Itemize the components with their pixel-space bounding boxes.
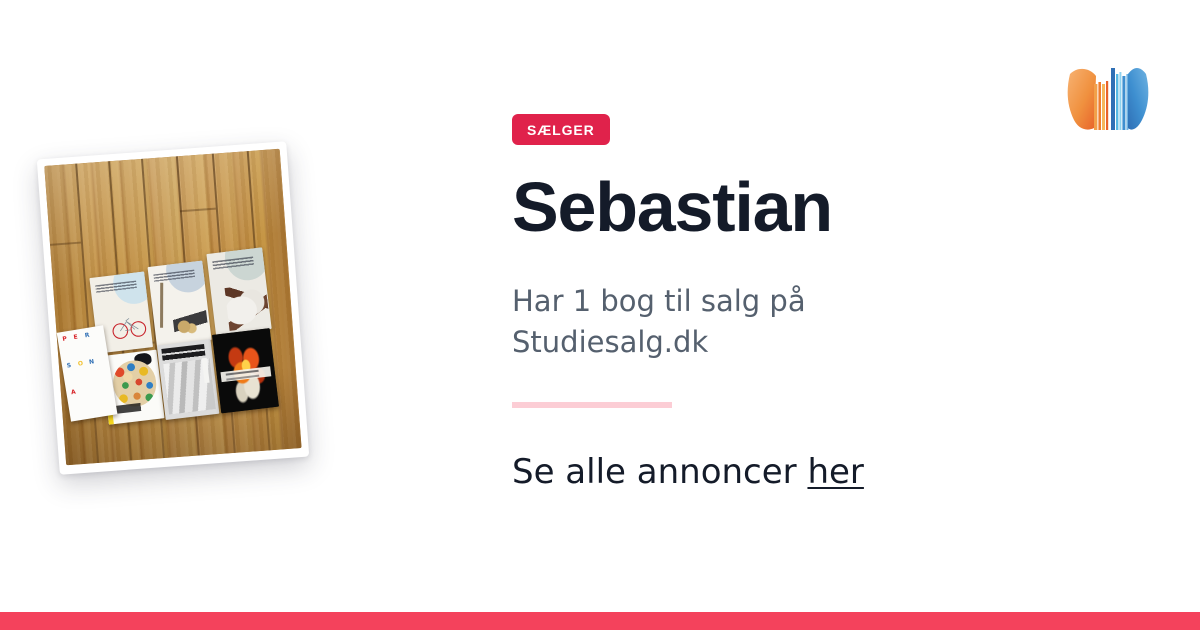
divider-rule (512, 402, 672, 408)
glove-photo (225, 283, 270, 330)
page-title: Sebastian (512, 170, 832, 246)
spiral-building-photo (163, 359, 216, 415)
persona-letter: O (77, 361, 83, 368)
persona-letter: N (88, 360, 94, 367)
books-photo-card: PERSONA (37, 141, 309, 474)
cta-prefix: Se alle annoncer (512, 452, 807, 492)
books-layout (90, 257, 280, 421)
studiesalg-logo (1056, 48, 1160, 158)
cover-object (171, 294, 210, 340)
book-cover-fire (212, 328, 279, 413)
subtitle: Har 1 bog til salg på Studiesalg.dk (512, 281, 912, 363)
bicycle-illustration (109, 305, 149, 346)
persona-letter: A (70, 390, 76, 397)
bottom-accent-bar (0, 612, 1200, 630)
cover-title-lines (162, 344, 206, 361)
seller-badge: SÆLGER (512, 114, 610, 145)
persona-letter: P (62, 337, 67, 344)
persona-letter: E (73, 335, 78, 342)
cover-title-band (116, 401, 157, 413)
cover-object-stick (160, 283, 163, 328)
logo-right-stripes (1111, 68, 1128, 130)
see-all-ads-link[interactable]: her (807, 452, 863, 492)
logo-left-wing (1068, 69, 1096, 130)
book-cover-tools (148, 260, 212, 347)
logo-left-stripes (1094, 81, 1108, 130)
persona-letter: R (84, 333, 90, 340)
reflection-fade (1056, 136, 1160, 158)
persona-letter: S (66, 363, 71, 370)
logo-mark (1068, 68, 1149, 130)
share-card: PERSONA SÆLGER Sebastian Har 1 bog til s… (0, 0, 1200, 630)
book-cover-glove (206, 247, 271, 335)
text-content: SÆLGER Sebastian Har 1 bog til salg på S… (512, 0, 1042, 630)
logo-right-wing (1128, 68, 1148, 130)
book-cover-statik (157, 339, 220, 420)
cta-line: Se alle annoncer her (512, 452, 864, 492)
photo-image: PERSONA (44, 149, 301, 465)
